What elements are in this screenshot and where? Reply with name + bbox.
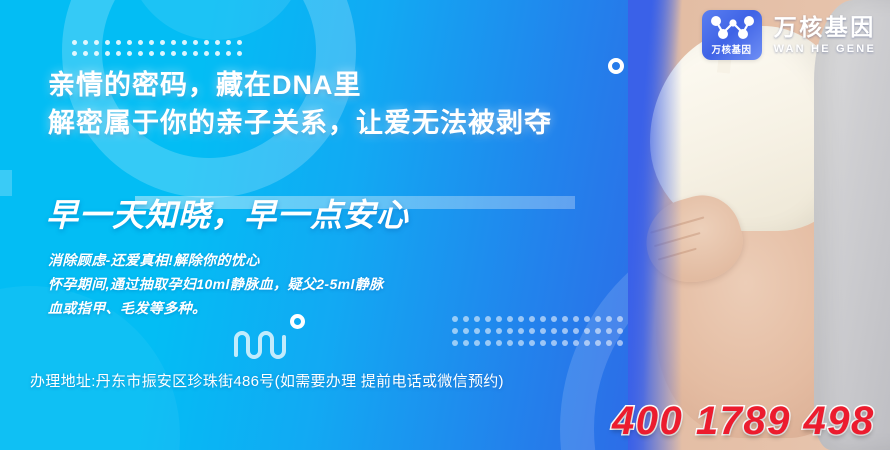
decor-dot [595,340,601,346]
decor-dot [551,316,557,322]
decor-dot-grid-top [72,40,248,62]
decor-dot [485,340,491,346]
decor-dot [452,316,458,322]
decor-dot [452,328,458,334]
decor-dot [595,316,601,322]
decor-dot [584,328,590,334]
decor-dot [551,328,557,334]
decor-dot [94,40,99,45]
decor-dot [182,51,187,56]
decor-dot [562,328,568,334]
decor-dot [127,51,132,56]
headline-line-2: 解密属于你的亲子关系，让爱无法被剥夺 [48,104,552,142]
decor-dot [474,328,480,334]
brand-logo: 万核基因 万核基因 WAN HE GENE [702,10,876,60]
decor-dot [452,340,458,346]
decor-dot [204,40,209,45]
decor-dot [507,328,513,334]
decor-dot [617,328,623,334]
decor-dot [573,340,579,346]
decor-dot [193,40,198,45]
decor-circle-top-left-fill [126,0,306,40]
decor-dot [540,316,546,322]
decor-dot [606,340,612,346]
body-copy-line-3: 血或指甲、毛发等多种。 [48,296,384,320]
decor-dot [518,316,524,322]
decor-dot [617,316,623,322]
decor-dot [474,316,480,322]
decor-dot [83,51,88,56]
decor-dot [485,328,491,334]
decor-dot [105,51,110,56]
decor-dot [215,40,220,45]
decor-dot [617,340,623,346]
decor-dot [518,328,524,334]
decor-dot [83,40,88,45]
wave-line-icon [232,325,290,359]
decor-dot [116,40,121,45]
decor-dot [94,51,99,56]
decor-dot [595,328,601,334]
decor-dot [171,51,176,56]
decor-dot [215,51,220,56]
decor-dot [474,340,480,346]
decor-dot [496,328,502,334]
decor-dot [149,40,154,45]
decor-dot [529,328,535,334]
decor-dot [193,51,198,56]
decor-dot [584,340,590,346]
decor-dot [182,40,187,45]
decor-dot [463,340,469,346]
decor-dot [507,316,513,322]
ring-circle-icon [608,58,624,74]
decor-dot [105,40,110,45]
promo-banner: 万核基因 万核基因 WAN HE GENE 亲情的密码，藏在DNA里 解密属于你… [0,0,890,450]
decor-dot [160,51,165,56]
body-copy-line-1: 消除顾虑-还爱真相!解除你的忧心 [48,248,384,272]
decor-dot [540,328,546,334]
decor-dot [485,316,491,322]
decor-dot [237,51,242,56]
decor-dot [562,340,568,346]
decor-dot [72,51,77,56]
decor-dot [127,40,132,45]
decor-dot [573,316,579,322]
logo-mark-label: 万核基因 [702,42,762,56]
decor-dot [138,40,143,45]
address-text: 办理地址:丹东市振安区珍珠街486号(如需要办理 提前电话或微信预约) [30,370,504,391]
headline-block: 亲情的密码，藏在DNA里 解密属于你的亲子关系，让爱无法被剥夺 [48,66,552,143]
logo-mark: 万核基因 [702,10,762,60]
decor-dot [204,51,209,56]
decor-dot [540,340,546,346]
body-copy-block: 消除顾虑-还爱真相!解除你的忧心 怀孕期间,通过抽取孕妇10ml静脉血，疑父2-… [48,248,384,320]
decor-dot [463,328,469,334]
decor-dot [149,51,154,56]
decor-dot [160,40,165,45]
decor-dot [496,340,502,346]
headline-line-1: 亲情的密码，藏在DNA里 [48,66,552,104]
decor-dot [606,316,612,322]
pregnant-woman-photo [628,0,890,450]
decor-dot [138,51,143,56]
decor-square-left [0,170,12,196]
decor-dot [171,40,176,45]
decor-dot [529,316,535,322]
decor-dot [529,340,535,346]
decor-dot [463,316,469,322]
decor-dot [573,328,579,334]
decor-dot [226,40,231,45]
decor-dot [116,51,121,56]
decor-dot [518,340,524,346]
decor-dot [551,340,557,346]
decor-dot [496,316,502,322]
decor-dot [507,340,513,346]
decor-dot [606,328,612,334]
logo-name-cn: 万核基因 [774,16,876,39]
slogan-text: 早一天知晓，早一点安心 [46,190,409,236]
decor-dot [237,40,242,45]
decor-dot [584,316,590,322]
phone-number[interactable]: 400 1789 498 [612,399,875,444]
decor-dot-grid-bottom [452,316,628,352]
decor-dot [72,40,77,45]
body-copy-line-2: 怀孕期间,通过抽取孕妇10ml静脉血，疑父2-5ml静脉 [48,272,384,296]
logo-name-en: WAN HE GENE [774,44,876,55]
decor-dot [226,51,231,56]
decor-dot [562,316,568,322]
